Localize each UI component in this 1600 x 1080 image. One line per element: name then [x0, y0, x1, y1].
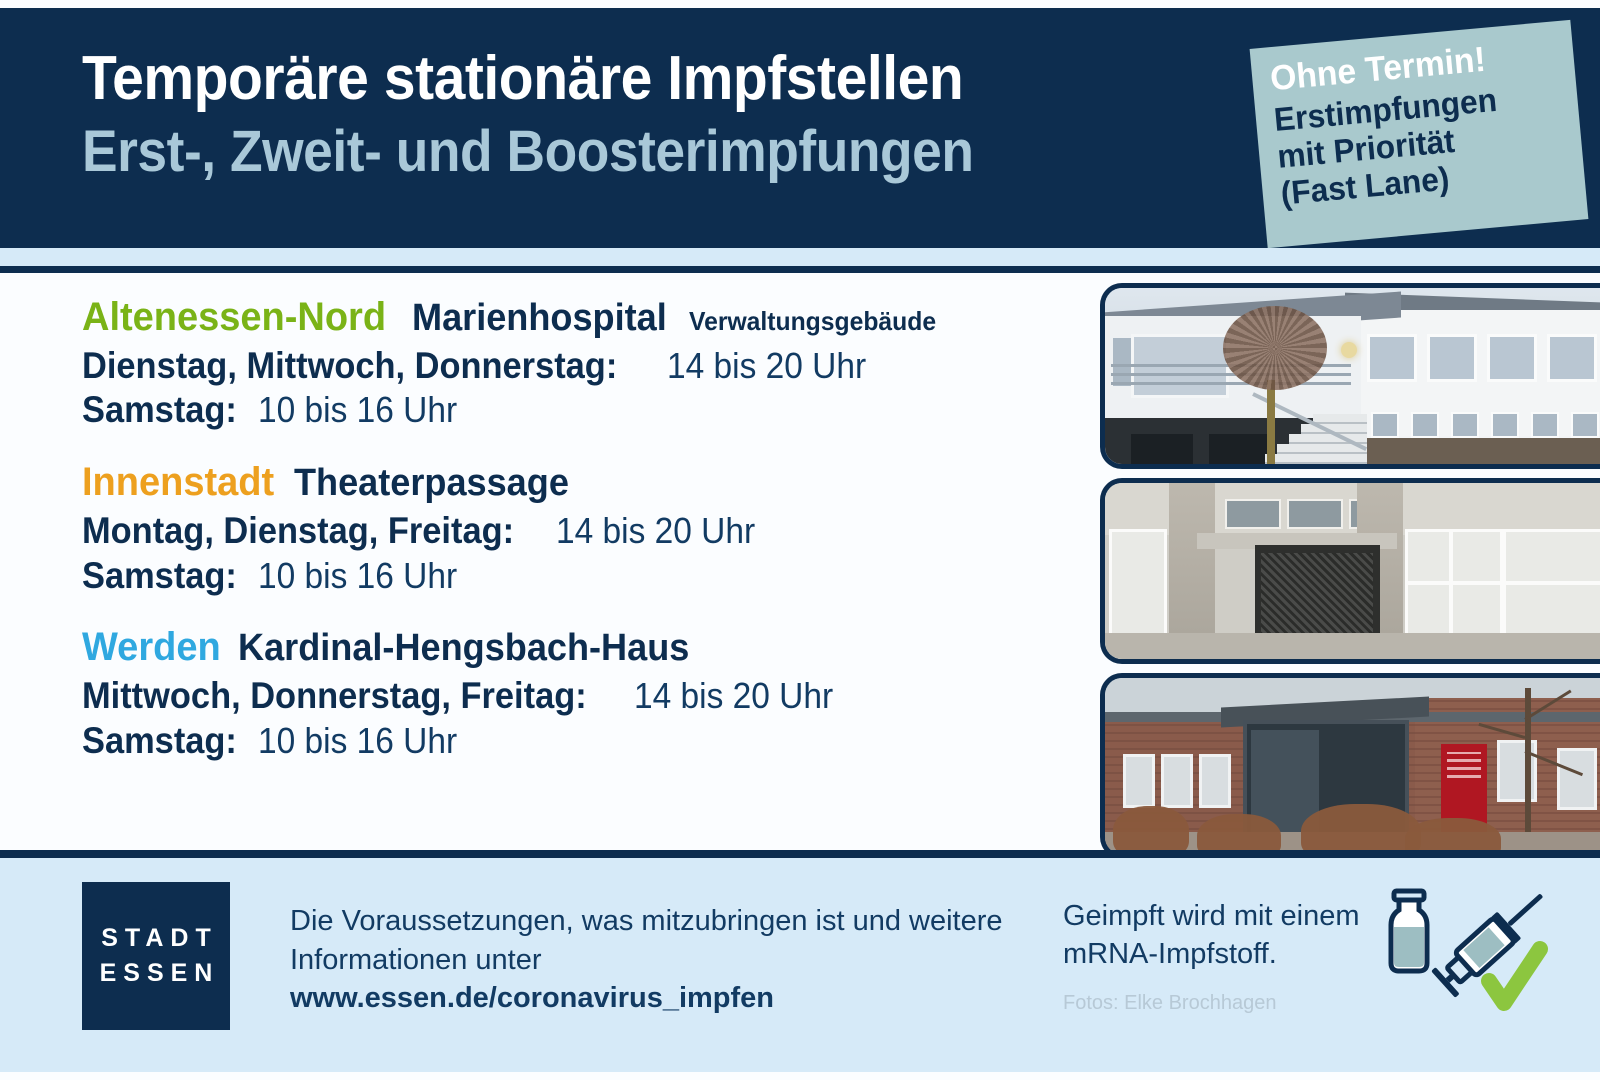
top-divider	[0, 266, 1600, 273]
opening-row: Samstag:10 bis 16 Uhr	[82, 719, 1092, 763]
vaccine-info-line-1: Geimpft wird mit einem	[1063, 898, 1413, 936]
opening-hours: 14 bis 20 Uhr	[556, 510, 755, 552]
location-photo-marienhospital	[1100, 283, 1600, 469]
list-item: WerdenKardinal-Hengsbach-Haus Mittwoch, …	[82, 625, 1092, 762]
vaccination-poster: Temporäre stationäre Impfstellen Erst-, …	[0, 0, 1600, 1080]
venue-name: Kardinal-Hengsbach-Haus	[238, 627, 689, 670]
venue-name: Marienhospital	[412, 297, 667, 340]
venue-name: Theaterpassage	[294, 462, 569, 505]
no-appointment-badge: Ohne Termin! Erstimpfungen mit Priorität…	[1250, 20, 1589, 248]
location-photo-kardinal-hengsbach-haus	[1100, 673, 1600, 859]
opening-row: Mittwoch, Donnerstag, Freitag:14 bis 20 …	[82, 674, 1092, 718]
footer-info-sentence: Die Voraussetzungen, was mitzubringen is…	[290, 905, 1003, 976]
opening-hours: 14 bis 20 Uhr	[667, 345, 866, 387]
vial-icon	[1391, 891, 1427, 971]
opening-days: Dienstag, Mittwoch, Donnerstag:	[82, 344, 617, 388]
location-photo-theaterpassage	[1100, 478, 1600, 664]
district-name: Altenessen-Nord	[82, 295, 386, 340]
location-heading: InnenstadtTheaterpassage	[82, 460, 1092, 505]
location-heading: WerdenKardinal-Hengsbach-Haus	[82, 625, 1092, 670]
poster-header: Temporäre stationäre Impfstellen Erst-, …	[0, 8, 1600, 248]
opening-row: Samstag:10 bis 16 Uhr	[82, 388, 1092, 432]
stadt-essen-logo: STADT ESSEN	[82, 882, 230, 1030]
footer-info-text: Die Voraussetzungen, was mitzubringen is…	[290, 902, 1020, 1018]
vaccine-info-line-2: mRNA-Impfstoff.	[1063, 936, 1413, 974]
opening-days: Samstag:	[82, 554, 237, 598]
opening-row: Montag, Dienstag, Freitag:14 bis 20 Uhr	[82, 509, 1092, 553]
opening-row: Dienstag, Mittwoch, Donnerstag:14 bis 20…	[82, 344, 1092, 388]
opening-hours: 14 bis 20 Uhr	[634, 675, 833, 717]
opening-hours: 10 bis 16 Uhr	[258, 555, 457, 597]
list-item: InnenstadtTheaterpassage Montag, Diensta…	[82, 460, 1092, 597]
vaccine-info-text: Geimpft wird mit einem mRNA-Impfstoff.	[1063, 898, 1413, 973]
vaccine-icon-group	[1382, 885, 1562, 1020]
header-titles: Temporäre stationäre Impfstellen Erst-, …	[82, 46, 1202, 184]
page-title: Temporäre stationäre Impfstellen	[82, 46, 1112, 111]
website-link[interactable]: www.essen.de/coronavirus_impfen	[290, 982, 774, 1014]
location-heading: Altenessen-NordMarienhospitalVerwaltungs…	[82, 295, 1092, 340]
opening-row: Samstag:10 bis 16 Uhr	[82, 554, 1092, 598]
opening-days: Samstag:	[82, 388, 237, 432]
bottom-divider	[0, 850, 1600, 858]
opening-days: Mittwoch, Donnerstag, Freitag:	[82, 674, 587, 718]
opening-days: Montag, Dienstag, Freitag:	[82, 509, 514, 553]
logo-line-stadt: STADT	[94, 926, 217, 951]
location-list: Altenessen-NordMarienhospitalVerwaltungs…	[82, 295, 1092, 762]
logo-line-essen: ESSEN	[93, 961, 220, 986]
opening-days: Samstag:	[82, 719, 237, 763]
opening-hours: 10 bis 16 Uhr	[258, 389, 457, 431]
poster-footer: STADT ESSEN Die Voraussetzungen, was mit…	[0, 858, 1600, 1072]
page-subtitle: Erst-, Zweit- und Boosterimpfungen	[82, 121, 1112, 184]
opening-hours: 10 bis 16 Uhr	[258, 720, 457, 762]
district-name: Werden	[82, 625, 221, 670]
venue-detail: Verwaltungsgebäude	[689, 307, 936, 336]
list-item: Altenessen-NordMarienhospitalVerwaltungs…	[82, 295, 1092, 432]
photo-credit: Fotos: Elke Brochhagen	[1063, 992, 1276, 1015]
district-name: Innenstadt	[82, 460, 274, 505]
header-accent-band	[0, 248, 1600, 266]
